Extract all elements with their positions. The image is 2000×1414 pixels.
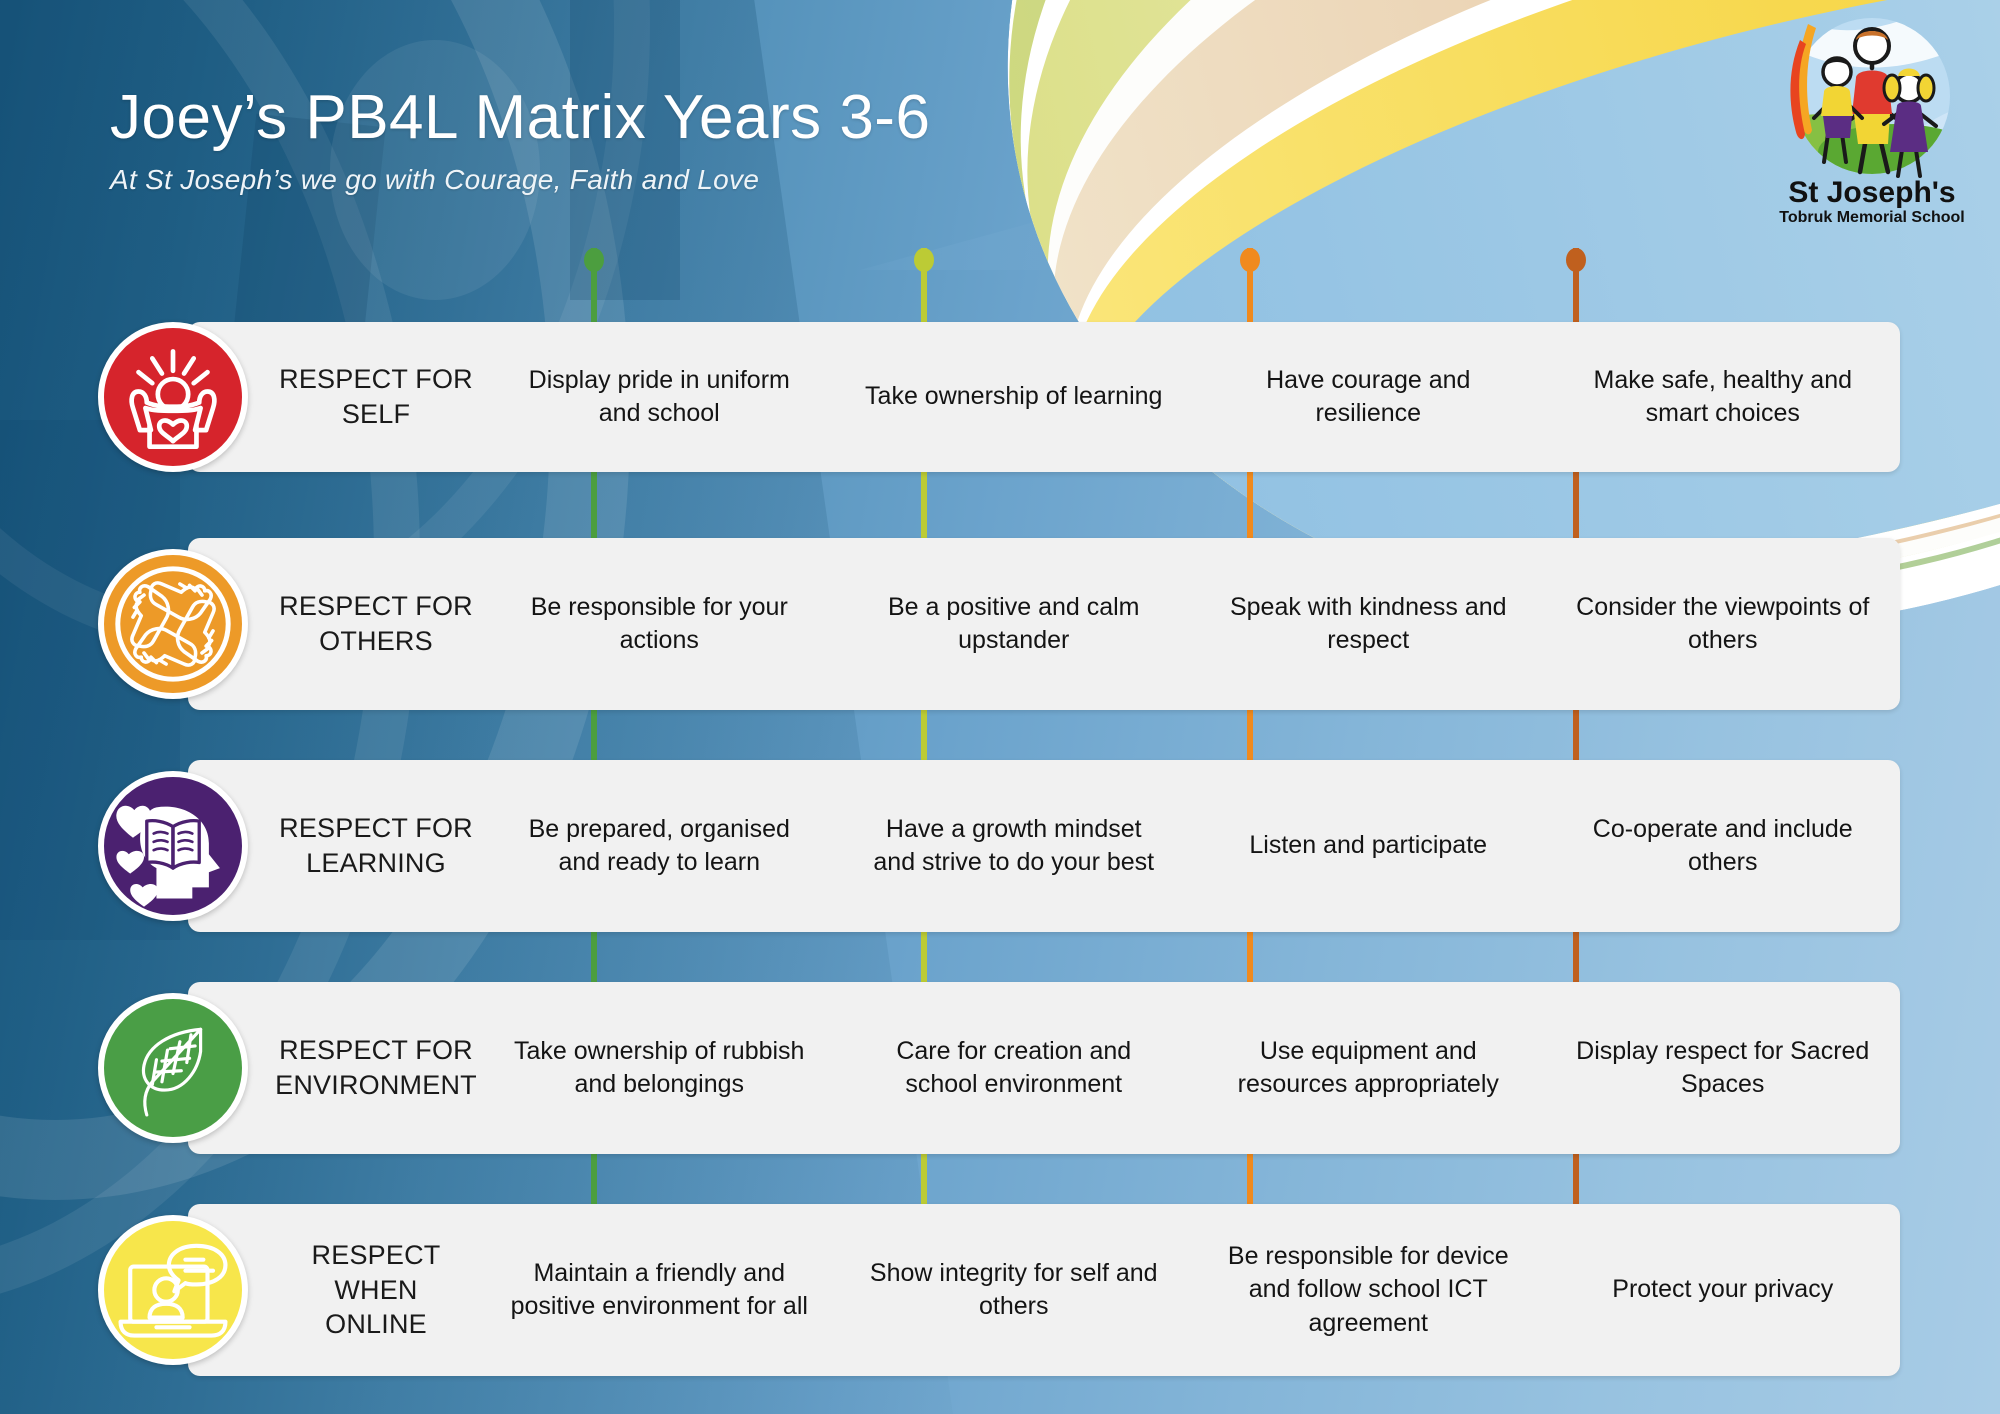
matrix-row-respect-for-learning: RESPECT FORLEARNING Be prepared, organis…	[188, 760, 1900, 932]
poster-header: Joey’s PB4L Matrix Years 3-6 At St Josep…	[110, 85, 930, 196]
cell-environment-col3: Use equipment and resources appropriatel…	[1191, 982, 1546, 1154]
cell-self-col4: Make safe, healthy and smart choices	[1546, 322, 1901, 472]
person-arms-raised-heart-icon	[104, 328, 242, 466]
row-label-line-2: ENVIRONMENT	[275, 1070, 477, 1100]
cell-others-col3: Speak with kindness and respect	[1191, 538, 1546, 710]
laptop-person-speech-bubble-icon	[104, 1221, 242, 1359]
row-label-line-2: SELF	[342, 399, 410, 429]
row-label-line-1: RESPECT	[312, 1240, 441, 1270]
cell-online-col1: Maintain a friendly and positive environ…	[482, 1204, 837, 1376]
cell-online-col3: Be responsible for device and follow sch…	[1191, 1204, 1546, 1376]
page-subtitle: At St Joseph’s we go with Courage, Faith…	[110, 164, 930, 196]
respect-for-environment-icon	[98, 993, 248, 1143]
cell-online-col2: Show integrity for self and others	[837, 1204, 1192, 1376]
cell-environment-col1: Take ownership of rubbish and belongings	[482, 982, 837, 1154]
respect-when-online-icon	[98, 1215, 248, 1365]
cell-learning-col2: Have a growth mindset and strive to do y…	[837, 760, 1192, 932]
school-logo-icon: St Joseph's Tobruk Memorial School	[1768, 6, 1976, 236]
cell-self-col3: Have courage and resilience	[1191, 322, 1546, 472]
respect-for-others-icon	[98, 549, 248, 699]
row-label-line-2: WHEN	[334, 1275, 417, 1305]
row-label-line-1: RESPECT FOR	[279, 813, 473, 843]
cell-environment-col2: Care for creation and school environment	[837, 982, 1192, 1154]
matrix-row-respect-for-others: RESPECT FOROTHERS Be responsible for you…	[188, 538, 1900, 710]
school-logo: St Joseph's Tobruk Memorial School	[1768, 6, 1976, 236]
cell-learning-col3: Listen and participate	[1191, 760, 1546, 932]
page-title: Joey’s PB4L Matrix Years 3-6	[110, 85, 930, 150]
matrix-row-respect-for-environment: RESPECT FORENVIRONMENT Take ownership of…	[188, 982, 1900, 1154]
pb4l-matrix-poster: Joey’s PB4L Matrix Years 3-6 At St Josep…	[0, 0, 2000, 1414]
cell-others-col2: Be a positive and calm upstander	[837, 538, 1192, 710]
matrix-row-respect-for-self: RESPECT FORSELF Display pride in uniform…	[188, 322, 1900, 472]
cell-self-col2: Take ownership of learning	[837, 322, 1192, 472]
row-label-line-2: LEARNING	[306, 848, 446, 878]
cell-learning-col4: Co-operate and include others	[1546, 760, 1901, 932]
row-label-line-3: ONLINE	[325, 1309, 427, 1339]
head-with-open-book-hearts-icon	[104, 777, 242, 915]
four-interlocking-hands-icon	[104, 555, 242, 693]
row-label-line-1: RESPECT FOR	[279, 1035, 473, 1065]
cell-others-col4: Consider the viewpoints of others	[1546, 538, 1901, 710]
cell-environment-col4: Display respect for Sacred Spaces	[1546, 982, 1901, 1154]
leaf-icon	[104, 999, 242, 1137]
cell-online-col4: Protect your privacy	[1546, 1204, 1901, 1376]
respect-for-self-icon	[98, 322, 248, 472]
matrix-row-respect-when-online: RESPECTWHENONLINE Maintain a friendly an…	[188, 1204, 1900, 1376]
logo-name-primary: St Joseph's	[1788, 176, 1955, 209]
respect-for-learning-icon	[98, 771, 248, 921]
logo-name-secondary: Tobruk Memorial School	[1779, 209, 1965, 226]
cell-learning-col1: Be prepared, organised and ready to lear…	[482, 760, 837, 932]
row-label-line-2: OTHERS	[319, 626, 433, 656]
row-label-line-1: RESPECT FOR	[279, 591, 473, 621]
cell-self-col1: Display pride in uniform and school	[482, 322, 837, 472]
cell-others-col1: Be responsible for your actions	[482, 538, 837, 710]
row-label-line-1: RESPECT FOR	[279, 364, 473, 394]
